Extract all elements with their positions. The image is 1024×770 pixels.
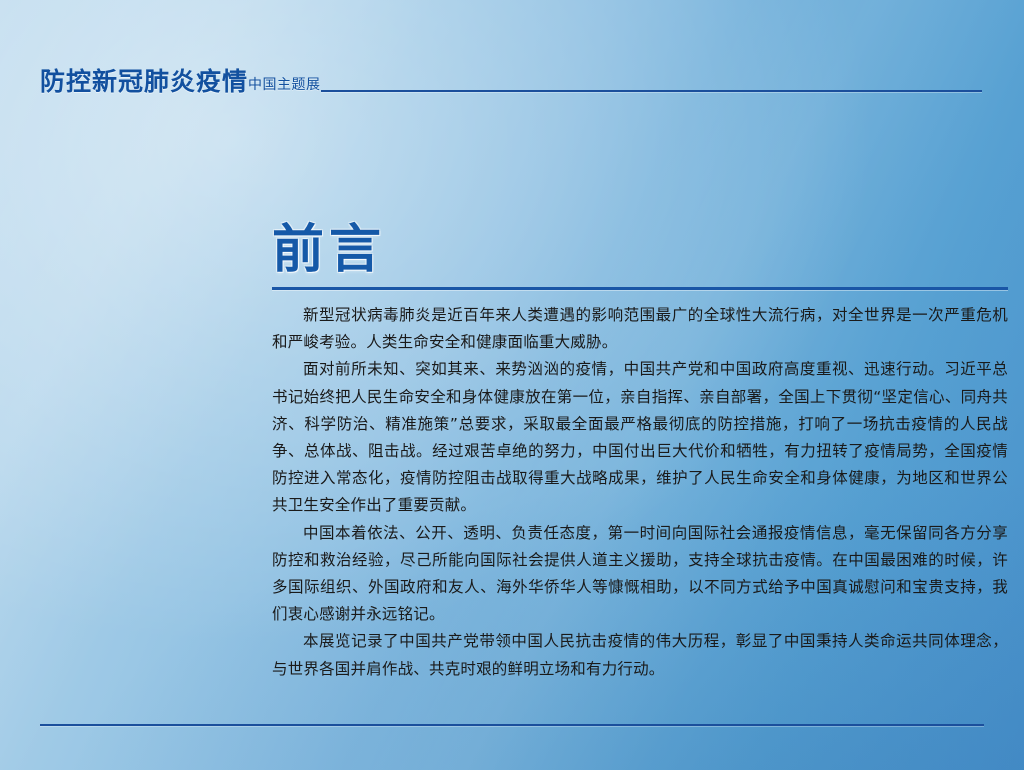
paragraph: 面对前所未知、突如其来、来势汹汹的疫情，中国共产党和中国政府高度重视、迅速行动。… (272, 356, 1008, 519)
exhibition-title-main: 防控新冠肺炎疫情 (40, 69, 248, 94)
section-title-block: 前言 (272, 222, 1008, 291)
section-divider-line (272, 287, 1008, 291)
preface-body-text: 新型冠状病毒肺炎是近百年来人类遭遇的影响范围最广的全球性大流行病，对全世界是一次… (272, 302, 1008, 683)
paragraph: 新型冠状病毒肺炎是近百年来人类遭遇的影响范围最广的全球性大流行病，对全世界是一次… (272, 302, 1008, 356)
exhibition-preface-panel: 防控新冠肺炎疫情 中国主题展 前言 新型冠状病毒肺炎是近百年来人类遭遇的影响范围… (0, 0, 1024, 770)
footer-divider-line (40, 724, 984, 727)
paragraph: 中国本着依法、公开、透明、负责任态度，第一时间向国际社会通报疫情信息，毫无保留同… (272, 520, 1008, 629)
section-title-preface: 前言 (272, 222, 1008, 278)
panel-header: 防控新冠肺炎疫情 中国主题展 (0, 58, 1024, 94)
exhibition-title-sub: 中国主题展 (248, 78, 321, 94)
paragraph: 本展览记录了中国共产党带领中国人民抗击疫情的伟大历程，彰显了中国秉持人类命运共同… (272, 628, 1008, 682)
header-divider-line (321, 90, 982, 93)
